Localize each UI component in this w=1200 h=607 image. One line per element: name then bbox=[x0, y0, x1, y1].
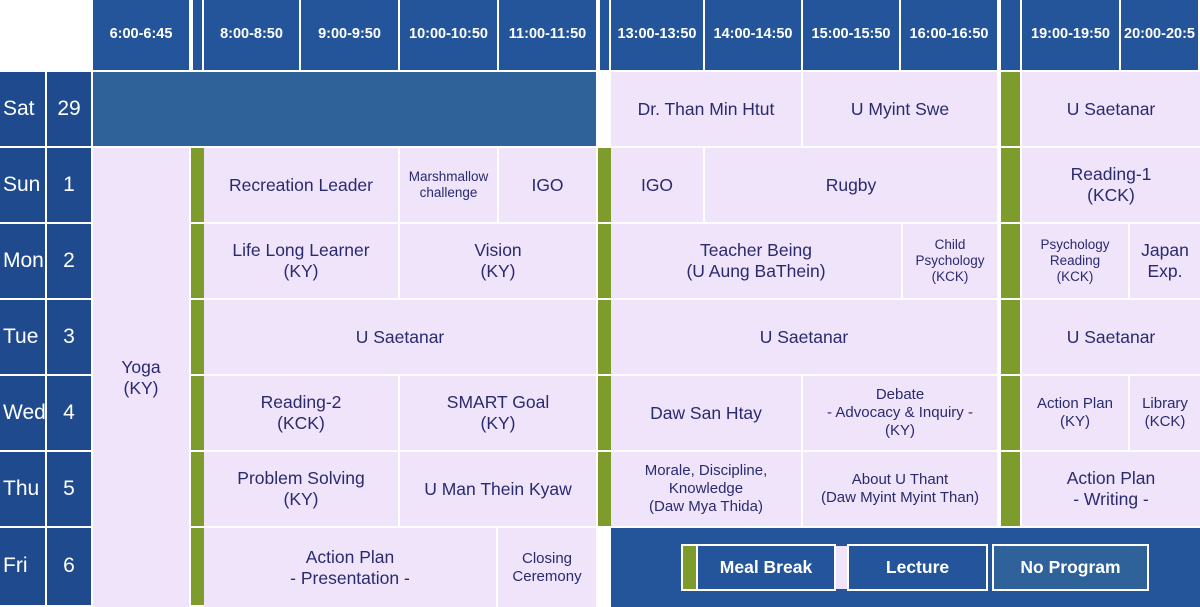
session-line2: Ceremony bbox=[512, 568, 581, 586]
thu-session-u-man-thein-kyaw[interactable]: U Man Thein Kyaw bbox=[400, 452, 598, 528]
time-header-10: 20:00-20:5 bbox=[1121, 0, 1200, 72]
meal-break-stripe-evening-sun bbox=[999, 148, 1022, 224]
meal-break-stripe-morning-sun bbox=[191, 148, 204, 224]
sat-session-13-14[interactable]: Dr. Than Min Htut bbox=[611, 72, 803, 148]
day-label-sun: Sun bbox=[0, 148, 47, 224]
session-line1: Library bbox=[1142, 395, 1188, 413]
session-line1: Daw San Htay bbox=[650, 403, 762, 424]
session-line2: (KY) bbox=[284, 261, 319, 282]
header-gap-lunch bbox=[598, 0, 611, 72]
session-line3: (KY) bbox=[885, 422, 915, 440]
session-line1: Reading-1 bbox=[1071, 164, 1152, 185]
session-line1: About U Thant bbox=[852, 471, 948, 489]
day-label-thu: Thu bbox=[0, 452, 47, 528]
meal-break-stripe-lunch-thu bbox=[598, 452, 611, 528]
time-header-9: 19:00-19:50 bbox=[1022, 0, 1121, 72]
meal-break-stripe-morning-fri bbox=[191, 528, 204, 607]
session-line2: (KY) bbox=[1060, 413, 1090, 431]
meal-break-stripe-morning-thu bbox=[191, 452, 204, 528]
session-line2: - Writing - bbox=[1073, 489, 1149, 510]
corner-blank bbox=[0, 0, 93, 72]
wed-session-smart-goal[interactable]: SMART Goal (KY) bbox=[400, 376, 598, 452]
meal-break-stripe-morning-tue bbox=[191, 300, 204, 376]
session-line1: Action Plan bbox=[1067, 468, 1156, 489]
session-line1: Dr. Than Min Htut bbox=[638, 99, 775, 120]
sat-session-19-20[interactable]: U Saetanar bbox=[1022, 72, 1200, 148]
sun-session-rugby[interactable]: Rugby bbox=[705, 148, 999, 224]
thu-session-about-u-thant[interactable]: About U Thant (Daw Myint Myint Than) bbox=[803, 452, 999, 528]
header-gap-morning bbox=[191, 0, 204, 72]
sun-session-igo-afternoon[interactable]: IGO bbox=[611, 148, 705, 224]
time-header-6: 14:00-14:50 bbox=[705, 0, 803, 72]
time-header-3: 10:00-10:50 bbox=[400, 0, 499, 72]
session-line1: U Man Thein Kyaw bbox=[424, 479, 572, 500]
date-label-mon: 2 bbox=[47, 224, 93, 300]
mon-session-child-psychology[interactable]: Child Psychology (KCK) bbox=[903, 224, 999, 300]
session-line1: SMART Goal bbox=[447, 392, 549, 413]
session-line2: - Presentation - bbox=[290, 568, 410, 589]
meal-break-stripe-evening-wed bbox=[999, 376, 1022, 452]
session-line3: (Daw Mya Thida) bbox=[649, 498, 763, 516]
meal-break-stripe-evening-tue bbox=[999, 300, 1022, 376]
fri-session-action-plan-presentation[interactable]: Action Plan - Presentation - bbox=[204, 528, 498, 607]
legend-item-meal-break[interactable]: Meal Break bbox=[696, 544, 836, 591]
session-line2: (KY) bbox=[284, 489, 319, 510]
meal-break-stripe-evening-mon bbox=[999, 224, 1022, 300]
session-line1: Rugby bbox=[826, 175, 877, 196]
day-label-fri: Fri bbox=[0, 528, 47, 607]
session-line1: U Saetanar bbox=[356, 327, 445, 348]
session-line1: Child bbox=[935, 237, 966, 253]
header-gap-evening bbox=[999, 0, 1022, 72]
mon-session-life-long-learner[interactable]: Life Long Learner (KY) bbox=[204, 224, 400, 300]
meal-break-stripe-morning-wed bbox=[191, 376, 204, 452]
sat-meal-break-evening bbox=[999, 72, 1022, 148]
time-header-5: 13:00-13:50 bbox=[611, 0, 705, 72]
thu-session-problem-solving[interactable]: Problem Solving (KY) bbox=[204, 452, 400, 528]
session-line2: challenge bbox=[420, 185, 478, 201]
session-line2: (U Aung BaThein) bbox=[686, 261, 825, 282]
legend-divider-gap bbox=[836, 546, 847, 589]
session-line1: IGO bbox=[531, 175, 563, 196]
date-label-thu: 5 bbox=[47, 452, 93, 528]
session-line1: U Saetanar bbox=[1067, 99, 1156, 120]
time-header-1: 8:00-8:50 bbox=[204, 0, 301, 72]
session-line1: Reading-2 bbox=[261, 392, 342, 413]
meal-break-stripe-lunch-wed bbox=[598, 376, 611, 452]
thu-session-morale-discipline-knowledge[interactable]: Morale, Discipline, Knowledge (Daw Mya T… bbox=[611, 452, 803, 528]
time-header-0: 6:00-6:45 bbox=[93, 0, 191, 72]
sun-session-recreation-leader[interactable]: Recreation Leader bbox=[204, 148, 400, 224]
date-label-sat: 29 bbox=[47, 72, 93, 148]
legend-item-no-program[interactable]: No Program bbox=[992, 544, 1149, 591]
session-line1: Action Plan bbox=[306, 547, 395, 568]
session-line2: (KY) bbox=[481, 413, 516, 434]
mon-session-vision[interactable]: Vision (KY) bbox=[400, 224, 598, 300]
fri-session-closing-ceremony[interactable]: Closing Ceremony bbox=[498, 528, 598, 607]
session-line1: Teacher Being bbox=[700, 240, 812, 261]
meal-break-stripe-lunch-sun bbox=[598, 148, 611, 224]
session-line1: Closing bbox=[522, 550, 572, 568]
session-line2: (KCK) bbox=[277, 413, 325, 434]
wed-session-reading-2[interactable]: Reading-2 (KCK) bbox=[204, 376, 400, 452]
session-line1: Recreation Leader bbox=[229, 175, 373, 196]
tue-session-afternoon[interactable]: U Saetanar bbox=[611, 300, 999, 376]
session-line1: U Myint Swe bbox=[851, 99, 949, 120]
session-line1: Debate bbox=[876, 386, 924, 404]
session-line2: Knowledge bbox=[669, 480, 743, 498]
day-label-wed: Wed bbox=[0, 376, 47, 452]
date-label-sun: 1 bbox=[47, 148, 93, 224]
session-line1: Action Plan bbox=[1037, 395, 1113, 413]
mon-session-japan-exp[interactable]: Japan Exp. bbox=[1130, 224, 1200, 300]
meal-break-stripe-evening-thu bbox=[999, 452, 1022, 528]
tue-session-evening[interactable]: U Saetanar bbox=[1022, 300, 1200, 376]
thu-session-action-plan-writing[interactable]: Action Plan - Writing - bbox=[1022, 452, 1200, 528]
yoga-line1: Yoga bbox=[121, 357, 160, 378]
date-label-tue: 3 bbox=[47, 300, 93, 376]
sat-session-15-16[interactable]: U Myint Swe bbox=[803, 72, 999, 148]
time-header-4: 11:00-11:50 bbox=[499, 0, 598, 72]
session-line3: (KCK) bbox=[932, 269, 969, 285]
session-line2: Exp. bbox=[1147, 261, 1182, 282]
day-label-tue: Tue bbox=[0, 300, 47, 376]
yoga-line2: (KY) bbox=[124, 378, 159, 399]
sun-session-marshmallow-challenge[interactable]: Marshmallow challenge bbox=[400, 148, 499, 224]
session-line2: (KCK) bbox=[1087, 185, 1135, 206]
yoga-session-block[interactable]: Yoga (KY) bbox=[93, 148, 191, 607]
date-label-wed: 4 bbox=[47, 376, 93, 452]
tue-session-morning[interactable]: U Saetanar bbox=[204, 300, 598, 376]
session-line1: IGO bbox=[641, 175, 673, 196]
sun-session-reading-1[interactable]: Reading-1 (KCK) bbox=[1022, 148, 1200, 224]
sat-no-program-morning bbox=[93, 72, 598, 148]
session-line2: (KY) bbox=[481, 261, 516, 282]
day-label-sat: Sat bbox=[0, 72, 47, 148]
schedule-table: 6:00-6:45 8:00-8:50 9:00-9:50 10:00-10:5… bbox=[0, 0, 1200, 607]
wed-session-library[interactable]: Library (KCK) bbox=[1130, 376, 1200, 452]
session-line1: Vision bbox=[474, 240, 521, 261]
session-line1: Marshmallow bbox=[409, 169, 489, 185]
session-line2: Reading bbox=[1050, 253, 1100, 269]
session-line2: Psychology bbox=[915, 253, 984, 269]
wed-session-action-plan[interactable]: Action Plan (KY) bbox=[1022, 376, 1130, 452]
session-line1: Life Long Learner bbox=[232, 240, 369, 261]
session-line2: - Advocacy & Inquiry - bbox=[827, 404, 973, 422]
session-line1: Psychology bbox=[1040, 237, 1109, 253]
session-line2: (Daw Myint Myint Than) bbox=[821, 489, 979, 507]
time-header-2: 9:00-9:50 bbox=[301, 0, 400, 72]
session-line2: (KCK) bbox=[1145, 413, 1186, 431]
sun-session-igo-morning[interactable]: IGO bbox=[499, 148, 598, 224]
day-label-mon: Mon bbox=[0, 224, 47, 300]
wed-session-debate[interactable]: Debate - Advocacy & Inquiry - (KY) bbox=[803, 376, 999, 452]
session-line3: (KCK) bbox=[1057, 269, 1094, 285]
session-line1: U Saetanar bbox=[760, 327, 849, 348]
session-line1: U Saetanar bbox=[1067, 327, 1156, 348]
mon-session-psychology-reading[interactable]: Psychology Reading (KCK) bbox=[1022, 224, 1130, 300]
session-line1: Problem Solving bbox=[237, 468, 364, 489]
meal-break-stripe-morning-mon bbox=[191, 224, 204, 300]
date-label-fri: 6 bbox=[47, 528, 93, 607]
mon-session-teacher-being[interactable]: Teacher Being (U Aung BaThein) bbox=[611, 224, 903, 300]
wed-session-daw-san-htay[interactable]: Daw San Htay bbox=[611, 376, 803, 452]
legend-item-lecture[interactable]: Lecture bbox=[847, 544, 988, 591]
time-header-8: 16:00-16:50 bbox=[901, 0, 999, 72]
session-line1: Japan bbox=[1141, 240, 1189, 261]
time-header-7: 15:00-15:50 bbox=[803, 0, 901, 72]
meal-break-stripe-lunch-mon bbox=[598, 224, 611, 300]
session-line1: Morale, Discipline, bbox=[645, 462, 768, 480]
meal-break-stripe-lunch-tue bbox=[598, 300, 611, 376]
